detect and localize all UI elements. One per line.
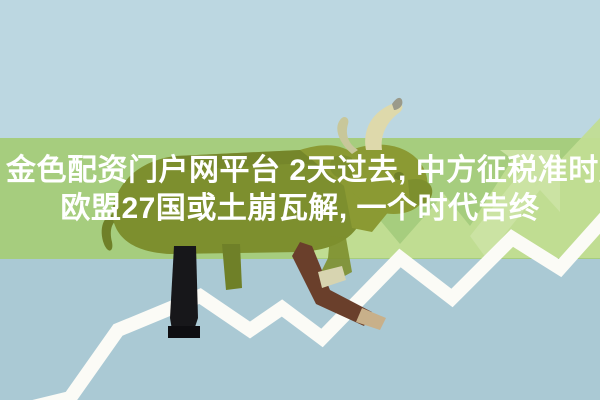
running-bull-icon: [102, 98, 433, 338]
illustration-layer: [0, 0, 600, 400]
banner-image: 金色配资门户网平台 2天过去, 中方征税准时启动, 欧盟27国或土崩瓦解, 一个…: [0, 0, 600, 400]
